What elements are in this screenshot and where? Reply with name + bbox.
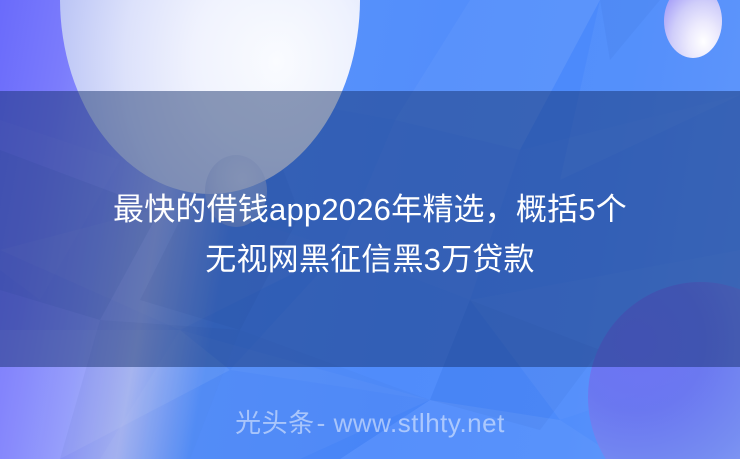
watermark-site-name: 光头条	[235, 408, 315, 438]
headline-title: 最快的借钱app2026年精选，概括5个 无视网黑征信黑3万贷款	[0, 185, 740, 285]
headline-line-1: 最快的借钱app2026年精选，概括5个	[0, 185, 740, 235]
watermark-separator: -	[317, 408, 326, 438]
banner-image: 最快的借钱app2026年精选，概括5个 无视网黑征信黑3万贷款 光头条- ww…	[0, 0, 740, 459]
site-watermark: 光头条- www.stlhty.net	[0, 406, 740, 440]
headline-line-2: 无视网黑征信黑3万贷款	[0, 235, 740, 285]
watermark-url: www.stlhty.net	[334, 408, 505, 438]
